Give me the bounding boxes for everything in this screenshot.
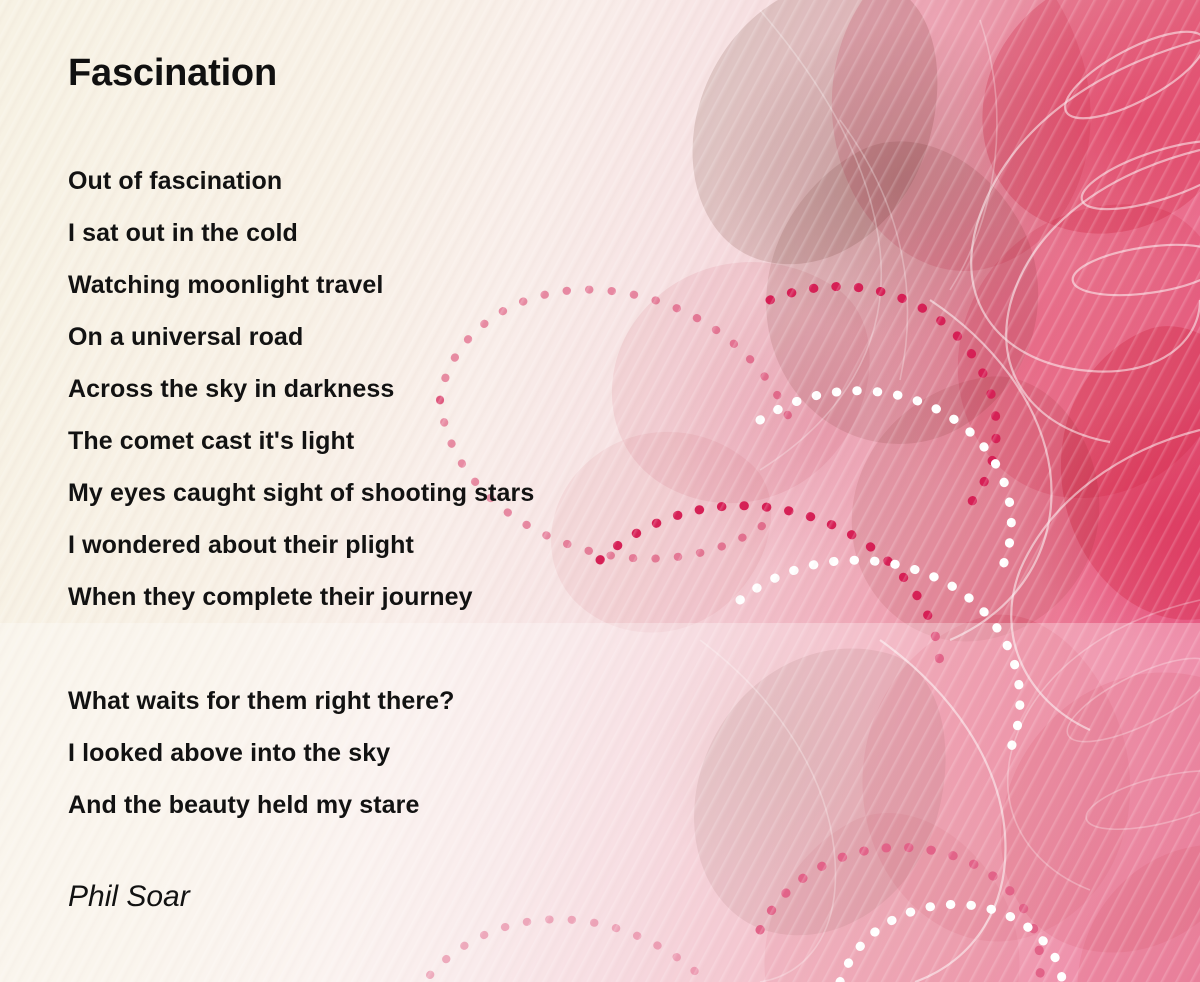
poem-line: I wondered about their plight: [68, 519, 534, 571]
flower-petal-shape: [512, 381, 808, 678]
flower-petal-shape: [568, 205, 912, 555]
swirl-line: [1011, 430, 1200, 730]
poem-line: What waits for them right there?: [68, 675, 455, 727]
dotted-trail: [760, 391, 1011, 572]
swirl-line: [1057, 642, 1200, 757]
swirl-line: [1081, 759, 1200, 841]
poem-line: My eyes caught sight of shooting stars: [68, 467, 534, 519]
flower-petal-shape: [709, 775, 1070, 982]
swirl-line: [1054, 15, 1200, 134]
flower-petal-shape: [659, 0, 970, 298]
swirl-line: [1008, 600, 1200, 890]
dotted-trail: [770, 287, 996, 515]
dotted-trail: [760, 847, 1040, 975]
flower-petal-shape: [1059, 823, 1200, 982]
dotted-trail: [840, 904, 1062, 982]
page-title: Fascination: [68, 52, 277, 95]
flower-petal-shape: [706, 99, 1093, 490]
flower-petal-shape: [940, 183, 1200, 518]
flower-petal-shape: [941, 0, 1200, 281]
swirl-line: [840, 120, 908, 380]
flower-petal-shape: [794, 0, 1126, 297]
poem-author: Phil Soar: [68, 880, 190, 914]
flower-petal-shape: [821, 589, 1169, 971]
dotted-trail: [600, 506, 940, 670]
flower-petal-shape: [663, 613, 976, 968]
swirl-line: [1075, 127, 1200, 223]
swirl-line: [760, 10, 881, 470]
poem-line: When they complete their journey: [68, 571, 534, 623]
poem-line: Out of fascination: [68, 155, 534, 207]
swirl-line: [930, 300, 1052, 640]
swirl-line: [1070, 237, 1200, 304]
poem-line: Across the sky in darkness: [68, 363, 534, 415]
swirl-line: [950, 20, 997, 290]
poem-line: I looked above into the sky: [68, 727, 455, 779]
swirl-line: [700, 640, 835, 982]
poem-line: And the beauty held my stare: [68, 779, 455, 831]
poem-line: The comet cast it's light: [68, 415, 534, 467]
poem-stanza-2: What waits for them right there? I looke…: [68, 675, 455, 831]
swirl-line: [971, 40, 1200, 372]
dotted-trail: [430, 919, 705, 982]
poem-line: I sat out in the cold: [68, 207, 534, 259]
poem-card: Fascination Out of fascination I sat out…: [0, 0, 1200, 982]
flower-petal-shape: [1014, 297, 1200, 652]
poem-line: On a universal road: [68, 311, 534, 363]
dotted-trail: [740, 560, 1020, 750]
flower-petal-shape: [833, 364, 1117, 656]
swirl-line: [880, 640, 1005, 982]
swirl-line: [1006, 150, 1200, 442]
poem-stanza-1: Out of fascination I sat out in the cold…: [68, 155, 534, 623]
poem-line: Watching moonlight travel: [68, 259, 534, 311]
flower-petal-shape: [960, 622, 1200, 982]
